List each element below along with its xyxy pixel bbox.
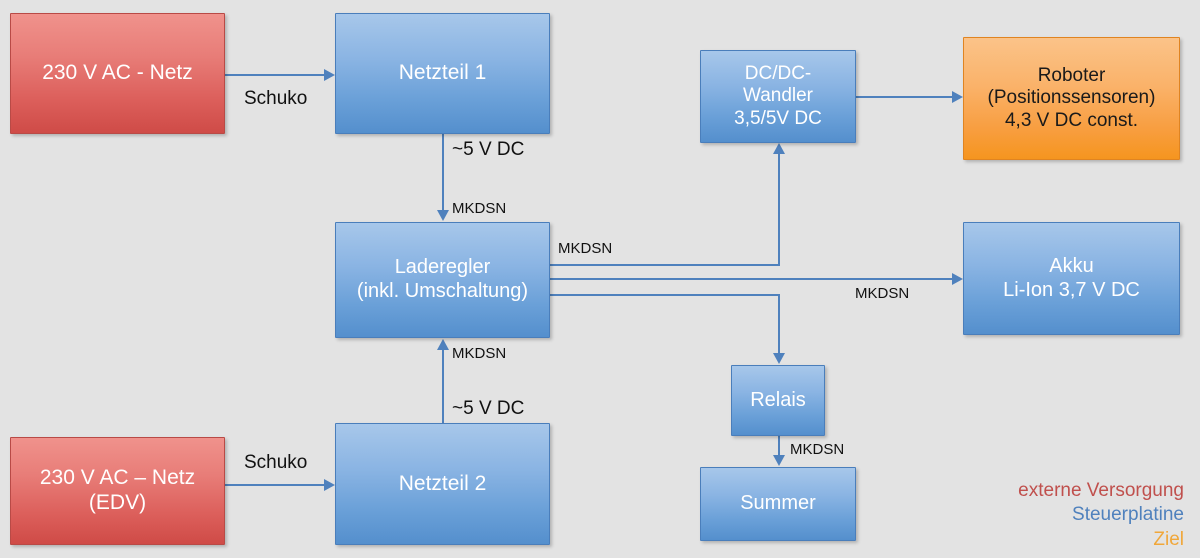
legend-item-external-supply-label: externe Versorgung bbox=[1018, 480, 1184, 501]
edge-label-schuko-top: Schuko bbox=[244, 88, 307, 110]
node-robot-line3: 4,3 V DC const. bbox=[970, 110, 1173, 132]
legend-item-target: Ziel bbox=[1018, 528, 1184, 552]
node-robot-line2: (Positionssensoren) bbox=[970, 87, 1173, 109]
node-robot-line1: Roboter bbox=[970, 65, 1173, 87]
diagram-canvas: Schuko ~5 V DC MKDSN MKDSN MKDSN MKDSN M… bbox=[0, 0, 1200, 558]
node-mains-2[interactable]: 230 V AC – Netz (EDV) bbox=[10, 437, 225, 545]
edge-charger-to-battery-arrowhead bbox=[952, 273, 963, 285]
edge-label-schuko-bottom: Schuko bbox=[244, 452, 307, 474]
node-relay[interactable]: Relais bbox=[731, 365, 825, 436]
edge-psu1-to-charger-line bbox=[442, 134, 444, 212]
node-battery-line1: Akku bbox=[970, 255, 1173, 279]
edge-relay-to-buzzer-arrowhead bbox=[773, 455, 785, 466]
edge-mains1-to-psu1-line bbox=[225, 74, 325, 76]
edge-charger-to-dcdc-horizontal bbox=[550, 264, 780, 266]
node-dcdc-converter[interactable]: DC/DC- Wandler 3,5/5V DC bbox=[700, 50, 856, 143]
node-mains-2-line1: 230 V AC – Netz bbox=[17, 466, 218, 491]
edge-relay-to-buzzer-line bbox=[778, 436, 780, 457]
edge-charger-to-dcdc-arrowhead bbox=[773, 143, 785, 154]
edge-label-mkdsn-battery: MKDSN bbox=[855, 285, 909, 302]
edge-mains2-to-psu2-line bbox=[225, 484, 325, 486]
edge-psu2-to-charger-arrowhead bbox=[437, 339, 449, 350]
node-mains-1[interactable]: 230 V AC - Netz bbox=[10, 13, 225, 134]
legend-item-target-label: Ziel bbox=[1153, 529, 1184, 550]
edge-mains1-to-psu1-arrowhead bbox=[324, 69, 335, 81]
node-relay-label: Relais bbox=[738, 389, 818, 413]
node-psu-2[interactable]: Netzteil 2 bbox=[335, 423, 550, 545]
edge-label-mkdsn-psu1: MKDSN bbox=[452, 200, 506, 217]
node-robot[interactable]: Roboter (Positionssensoren) 4,3 V DC con… bbox=[963, 37, 1180, 160]
node-battery-line2: Li-Ion 3,7 V DC bbox=[970, 279, 1173, 303]
edge-label-5v-dc-bottom: ~5 V DC bbox=[452, 398, 524, 420]
edge-charger-to-relay-horizontal bbox=[550, 294, 780, 296]
edge-charger-to-relay-arrowhead bbox=[773, 353, 785, 364]
node-charge-controller-line1: Laderegler bbox=[342, 256, 543, 280]
edge-charger-to-dcdc-vertical bbox=[778, 154, 780, 266]
legend-item-external-supply: externe Versorgung bbox=[1018, 479, 1184, 503]
node-charge-controller-line2: (inkl. Umschaltung) bbox=[342, 280, 543, 304]
node-dcdc-converter-line2: Wandler bbox=[707, 85, 849, 107]
edge-label-mkdsn-buzzer: MKDSN bbox=[790, 441, 844, 458]
legend-item-control-board: Steuerplatine bbox=[1018, 503, 1184, 527]
node-dcdc-converter-line3: 3,5/5V DC bbox=[707, 108, 849, 130]
node-charge-controller[interactable]: Laderegler (inkl. Umschaltung) bbox=[335, 222, 550, 338]
edge-charger-to-relay-vertical bbox=[778, 294, 780, 354]
node-mains-2-line2: (EDV) bbox=[17, 491, 218, 516]
edge-psu1-to-charger-arrowhead bbox=[437, 210, 449, 221]
legend-item-control-board-label: Steuerplatine bbox=[1072, 504, 1184, 525]
edge-charger-to-battery-line bbox=[550, 278, 953, 280]
edge-mains2-to-psu2-arrowhead bbox=[324, 479, 335, 491]
edge-psu2-to-charger-line bbox=[442, 350, 444, 424]
node-battery[interactable]: Akku Li-Ion 3,7 V DC bbox=[963, 222, 1180, 335]
node-psu-1-label: Netzteil 1 bbox=[342, 61, 543, 86]
edge-dcdc-to-robot-arrowhead bbox=[952, 91, 963, 103]
node-buzzer-label: Summer bbox=[707, 492, 849, 516]
node-buzzer[interactable]: Summer bbox=[700, 467, 856, 541]
node-psu-1[interactable]: Netzteil 1 bbox=[335, 13, 550, 134]
legend: externe Versorgung Steuerplatine Ziel bbox=[1018, 479, 1184, 552]
edge-label-mkdsn-dcdc: MKDSN bbox=[558, 240, 612, 257]
edge-label-mkdsn-psu2: MKDSN bbox=[452, 345, 506, 362]
node-mains-1-label: 230 V AC - Netz bbox=[17, 61, 218, 86]
edge-label-5v-dc-top: ~5 V DC bbox=[452, 139, 524, 161]
edge-dcdc-to-robot-line bbox=[855, 96, 953, 98]
node-dcdc-converter-line1: DC/DC- bbox=[707, 63, 849, 85]
node-psu-2-label: Netzteil 2 bbox=[342, 472, 543, 497]
